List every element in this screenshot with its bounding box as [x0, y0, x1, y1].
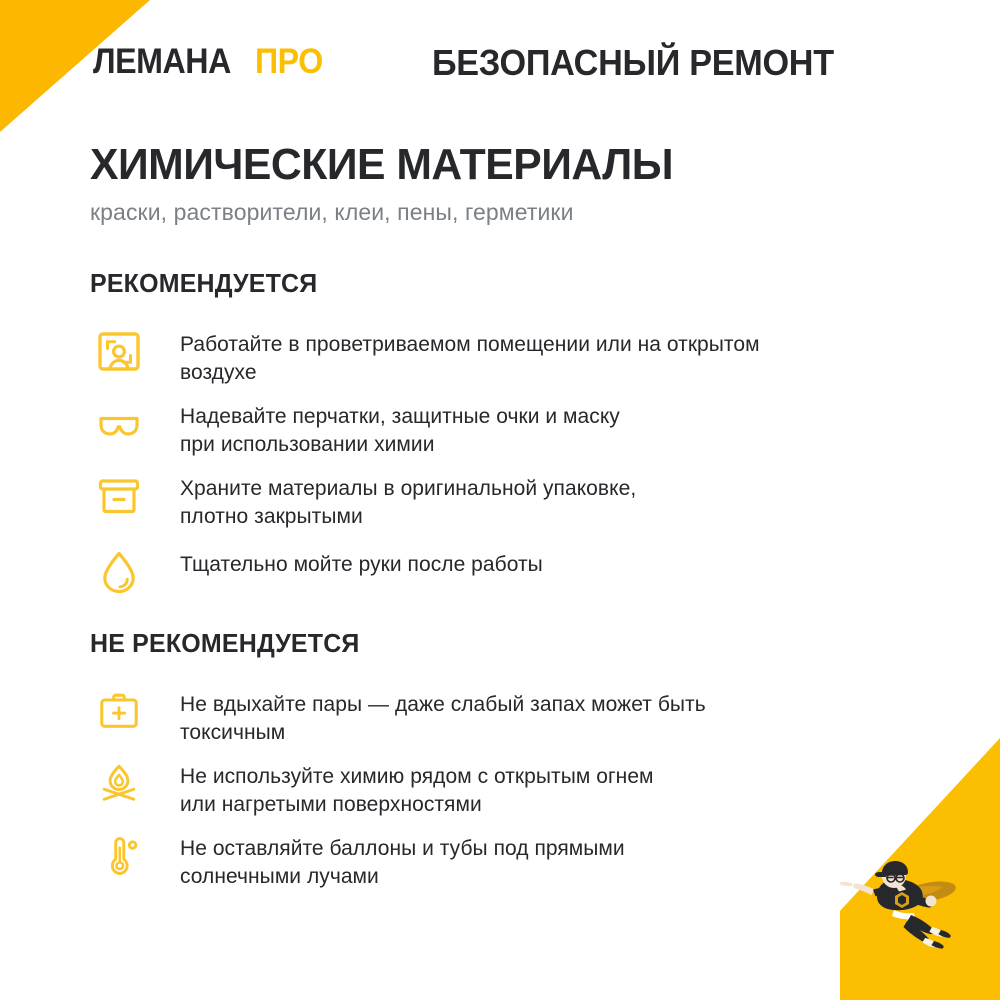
list-item: Не оставляйте баллоны и тубы под прямыми…	[90, 831, 900, 891]
list-item: Храните материалы в оригинальной упаковк…	[90, 471, 900, 531]
tip-list-not-recommended: Не вдыхайте пары — даже слабый запах мож…	[90, 687, 900, 891]
page-title: ХИМИЧЕСКИЕ МАТЕРИАЛЫ	[90, 143, 673, 187]
list-item-text: Храните материалы в оригинальной упаковк…	[148, 471, 900, 531]
brand-name-main: ЛЕМАНА	[93, 42, 231, 82]
section-recommended: РЕКОМЕНДУЕТСЯ Работайте в проветриваемом…	[90, 268, 900, 618]
thermometer-sun-icon	[90, 831, 148, 889]
list-item-text: Надевайте перчатки, защитные очки и маск…	[148, 399, 900, 459]
brand-logo: ЛЕМАНА ПРО	[93, 42, 329, 82]
section-heading-recommended: РЕКОМЕНДУЕТСЯ	[90, 268, 868, 299]
list-item-text: Работайте в проветриваемом помещении или…	[148, 327, 900, 387]
list-item-line-1: Не используйте химию рядом с открытым ог…	[180, 763, 900, 791]
tip-list-recommended: Работайте в проветриваемом помещении или…	[90, 327, 900, 605]
list-item-line-2: токсичным	[180, 719, 900, 747]
open-window-person-icon	[90, 327, 148, 385]
list-item: Не используйте химию рядом с открытым ог…	[90, 759, 900, 819]
list-item-line-2: воздухе	[180, 359, 900, 387]
brand-name-accent: ПРО	[255, 42, 323, 82]
list-item-text: Не вдыхайте пары — даже слабый запах мож…	[148, 687, 900, 747]
list-item-line-1: Не вдыхайте пары — даже слабый запах мож…	[180, 691, 900, 719]
poster-canvas: ЛЕМАНА ПРО БЕЗОПАСНЫЙ РЕМОНТ ХИМИЧЕСКИЕ …	[0, 0, 1000, 1000]
page-subtitle: краски, растворители, клеи, пены, гермет…	[90, 199, 691, 226]
campaign-title: БЕЗОПАСНЫЙ РЕМОНТ	[432, 42, 834, 84]
safety-goggles-icon	[90, 399, 148, 457]
list-item-line-1: Храните материалы в оригинальной упаковк…	[180, 475, 900, 503]
list-item-line-2: солнечными лучами	[180, 863, 900, 891]
storage-box-icon	[90, 471, 148, 529]
section-not-recommended: НЕ РЕКОМЕНДУЕТСЯ Не вдыхайте пары — даже…	[90, 628, 900, 907]
list-item-line-1: Не оставляйте баллоны и тубы под прямыми	[180, 835, 900, 863]
list-item-line-2: или нагретыми поверхностями	[180, 791, 900, 819]
water-drop-icon	[90, 547, 148, 605]
campfire-icon	[90, 759, 148, 817]
list-item-line-2: при использовании химии	[180, 431, 900, 459]
list-item-text: Не оставляйте баллоны и тубы под прямыми…	[148, 831, 900, 891]
list-item: Работайте в проветриваемом помещении или…	[90, 327, 900, 387]
poster-header: ЛЕМАНА ПРО БЕЗОПАСНЫЙ РЕМОНТ	[0, 0, 1000, 118]
list-item: Тщательно мойте руки после работы	[90, 547, 900, 605]
list-item: Не вдыхайте пары — даже слабый запах мож…	[90, 687, 900, 747]
flying-superhero-mascot	[812, 842, 982, 962]
list-item-line-2: плотно закрытыми	[180, 503, 900, 531]
list-item-line-1: Тщательно мойте руки после работы	[180, 551, 900, 579]
list-item-text: Тщательно мойте руки после работы	[148, 547, 900, 579]
list-item-line-1: Надевайте перчатки, защитные очки и маск…	[180, 403, 900, 431]
list-item: Надевайте перчатки, защитные очки и маск…	[90, 399, 900, 459]
title-block: ХИМИЧЕСКИЕ МАТЕРИАЛЫ краски, растворител…	[90, 143, 691, 226]
first-aid-kit-icon	[90, 687, 148, 745]
list-item-text: Не используйте химию рядом с открытым ог…	[148, 759, 900, 819]
section-heading-not-recommended: НЕ РЕКОМЕНДУЕТСЯ	[90, 628, 868, 659]
list-item-line-1: Работайте в проветриваемом помещении или…	[180, 331, 900, 359]
